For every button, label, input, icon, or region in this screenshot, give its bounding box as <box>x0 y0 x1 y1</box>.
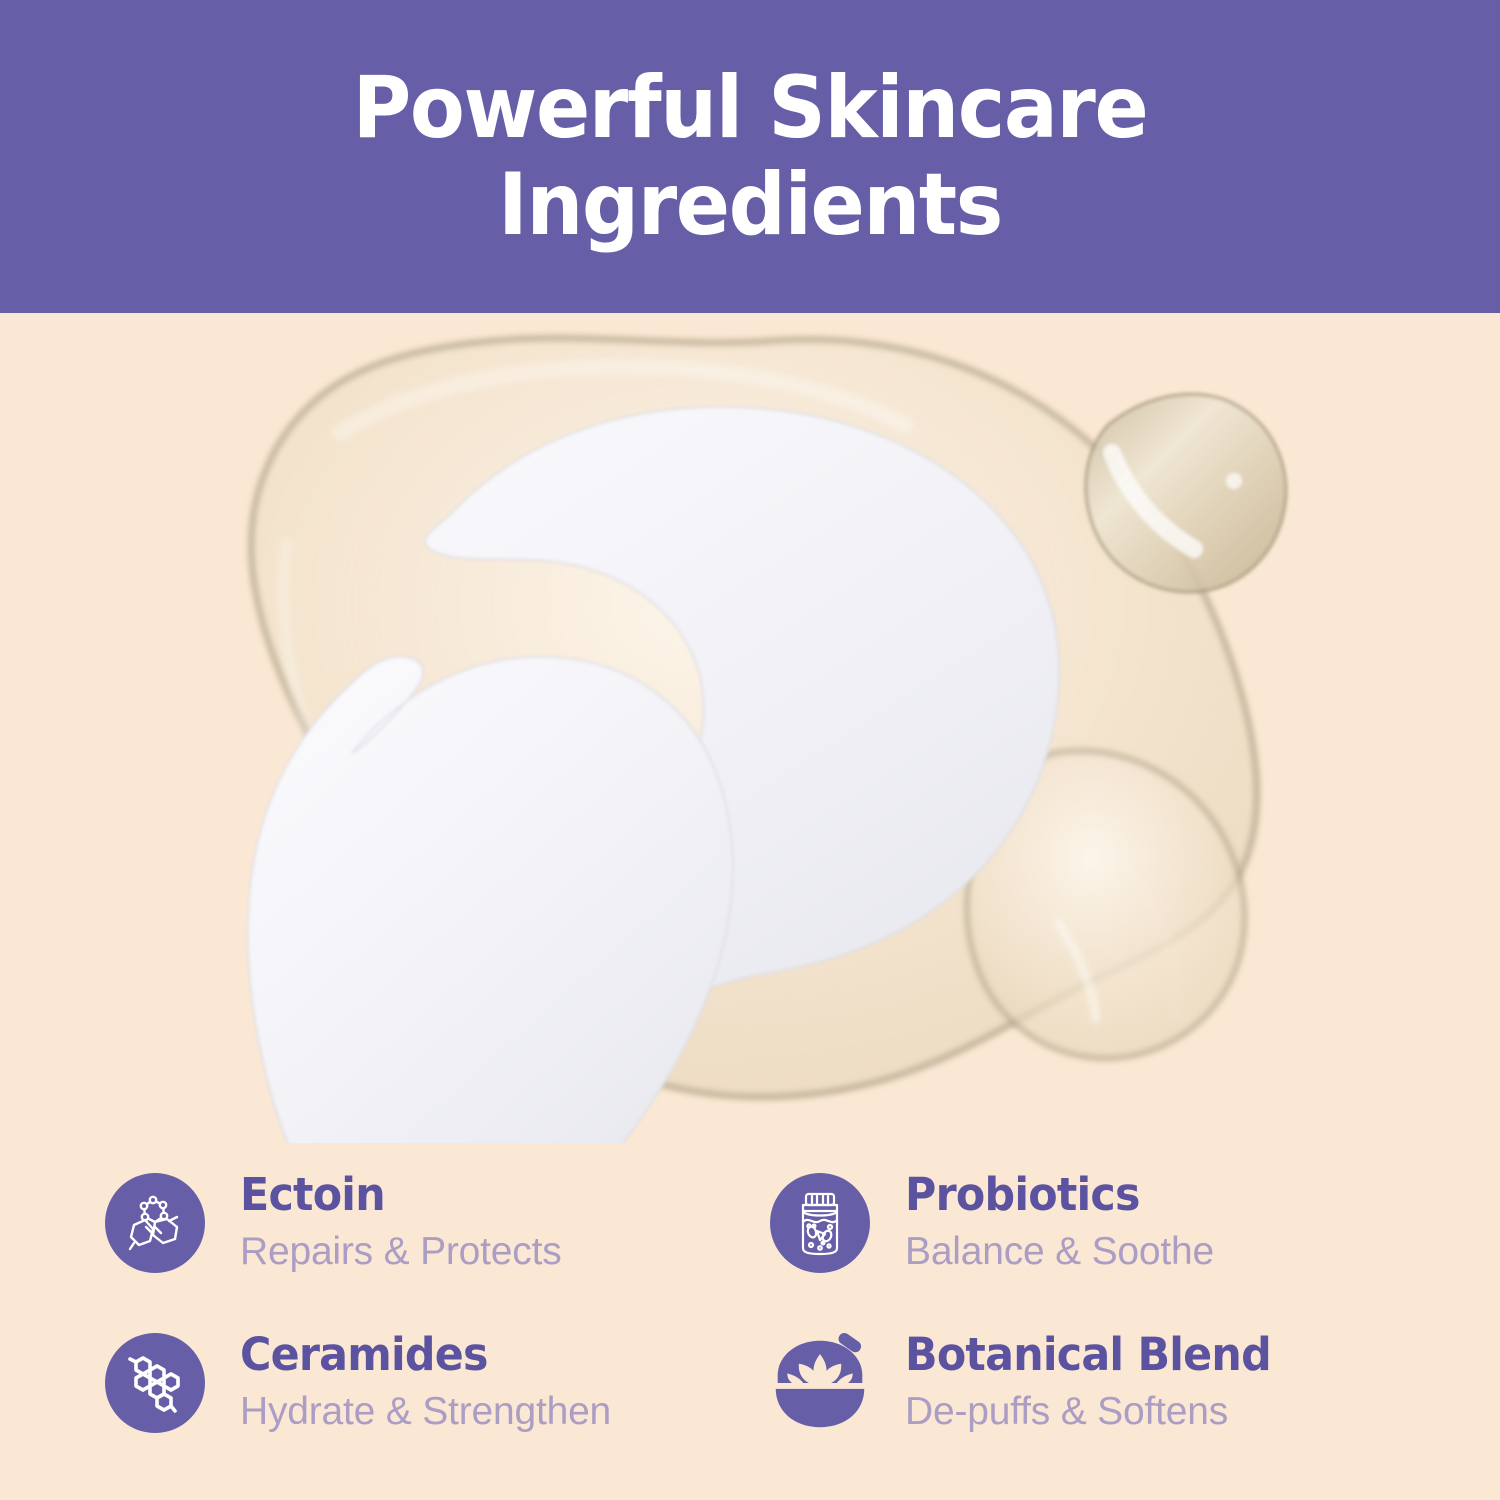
ingredient-name: Botanical Blend <box>905 1330 1271 1380</box>
honeycomb-icon <box>120 1348 190 1418</box>
product-photo <box>0 313 1500 1143</box>
page-title-line-2: Ingredients <box>229 157 1271 253</box>
gel-droplet <box>1086 394 1286 592</box>
eye-patch-bottom-left <box>248 657 733 1143</box>
ingredient-benefit: Repairs & Protects <box>240 1229 562 1276</box>
mortar-pestle-lotus-icon <box>770 1331 870 1435</box>
ingredient-text: Probiotics Balance & Soothe <box>905 1170 1214 1276</box>
ingredient-name: Probiotics <box>905 1170 1199 1220</box>
ingredient-icon-badge <box>105 1173 205 1273</box>
header-banner: Powerful Skincare Ingredients <box>0 0 1500 313</box>
page-title-line-1: Powerful Skincare <box>353 58 1148 158</box>
molecule-icon <box>119 1187 191 1259</box>
ingredient-text: Ectoin Repairs & Protects <box>240 1170 562 1276</box>
ingredient-name: Ectoin <box>240 1170 545 1220</box>
ingredient-icon-badge <box>105 1333 205 1433</box>
ingredient-text: Botanical Blend De-puffs & Softens <box>905 1330 1290 1436</box>
ingredient-item-ectoin[interactable]: Ectoin Repairs & Protects <box>105 1143 770 1303</box>
ingredient-text: Ceramides Hydrate & Strengthen <box>240 1330 611 1436</box>
ingredient-item-probiotics[interactable]: Probiotics Balance & Soothe <box>770 1143 1500 1303</box>
ingredient-item-botanical-blend[interactable]: Botanical Blend De-puffs & Softens <box>770 1303 1500 1463</box>
ingredient-icon-badge <box>770 1333 870 1433</box>
ingredient-list: Ectoin Repairs & Protects <box>0 1143 1500 1500</box>
ingredient-benefit: Balance & Soothe <box>905 1229 1214 1276</box>
ingredient-name: Ceramides <box>240 1330 593 1380</box>
ingredient-benefit: Hydrate & Strengthen <box>240 1389 611 1436</box>
page-title: Powerful Skincare Ingredients <box>229 60 1271 253</box>
ingredient-infographic-poster: Powerful Skincare Ingredients <box>0 0 1500 1500</box>
eye-patches-gel-illustration <box>0 313 1500 1143</box>
probiotic-jar-icon <box>787 1188 853 1258</box>
ingredient-item-ceramides[interactable]: Ceramides Hydrate & Strengthen <box>105 1303 770 1463</box>
ingredient-icon-badge <box>770 1173 870 1273</box>
ingredient-benefit: De-puffs & Softens <box>905 1389 1290 1436</box>
